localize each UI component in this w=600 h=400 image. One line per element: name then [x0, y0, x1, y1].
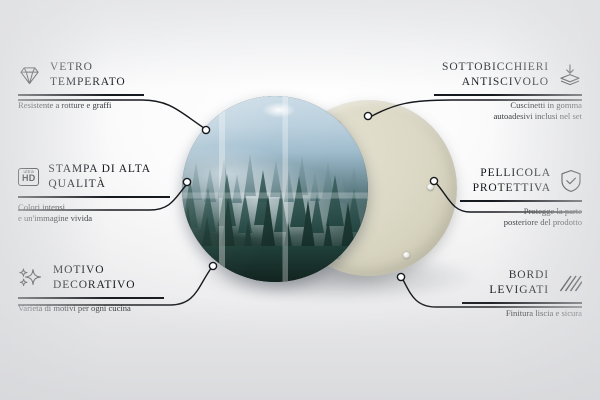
feature-title: MOTIVO DECORATIVO: [53, 263, 135, 293]
ultra-hd-badge-icon: ultra HD: [18, 168, 39, 187]
feature-sottobicchieri-antiscivolo: SOTTOBICCHIERI ANTISCIVOLO Cuscinetti in…: [434, 60, 582, 123]
ultra-hd-badge-bottom: HD: [22, 174, 35, 183]
feature-motivo-decorativo: MOTIVO DECORATIVO Varietà di motivi per …: [18, 263, 164, 314]
glass-reflection: [182, 96, 368, 282]
title-underline: [460, 200, 582, 201]
title-underline: [18, 94, 144, 95]
feature-stampa-alta-qualita: ultra HD STAMPA DI ALTA QUALITÀ Colori i…: [18, 162, 170, 225]
feature-subtitle: Cuscinetti in gomma autoadesivi inclusi …: [434, 100, 582, 123]
feature-title: PELLICOLA PROTETTIVA: [473, 166, 551, 196]
shield-check-icon: [560, 169, 582, 193]
feature-title: VETRO TEMPERATO: [50, 60, 126, 90]
title-underline: [434, 94, 582, 95]
anti-slip-pad-icon: [558, 63, 582, 87]
title-underline: [18, 196, 170, 197]
feature-subtitle: Protegge la parte posteriore del prodott…: [460, 206, 582, 229]
feature-vetro-temperato: VETRO TEMPERATO Resistente a rotture e g…: [18, 60, 144, 111]
polished-edges-icon: [558, 272, 582, 294]
rubber-pad: [427, 184, 434, 191]
forest-print-round-glass-board: [182, 96, 368, 282]
feature-title: SOTTOBICCHIERI ANTISCIVOLO: [442, 60, 549, 90]
feature-subtitle: Resistente a rotture e graffi: [18, 100, 144, 112]
sparkles-icon: [18, 267, 44, 289]
feature-bordi-levigati: BORDI LEVIGATI Finitura liscia e sicura: [462, 268, 582, 319]
glass-glint: [262, 102, 296, 118]
feature-title: BORDI LEVIGATI: [489, 268, 549, 298]
feature-pellicola-protettiva: PELLICOLA PROTETTIVA Protegge la parte p…: [460, 166, 582, 229]
feature-subtitle: Colori intensi e un'immagine vivida: [18, 202, 170, 225]
diamond-icon: [18, 65, 41, 86]
rubber-pad: [403, 252, 410, 259]
title-underline: [462, 302, 582, 303]
feature-subtitle: Varietà di motivi per ogni cucina: [18, 303, 164, 315]
infographic-canvas: VETRO TEMPERATO Resistente a rotture e g…: [0, 0, 600, 400]
feature-title: STAMPA DI ALTA QUALITÀ: [48, 162, 151, 192]
feature-subtitle: Finitura liscia e sicura: [462, 308, 582, 320]
title-underline: [18, 297, 164, 298]
